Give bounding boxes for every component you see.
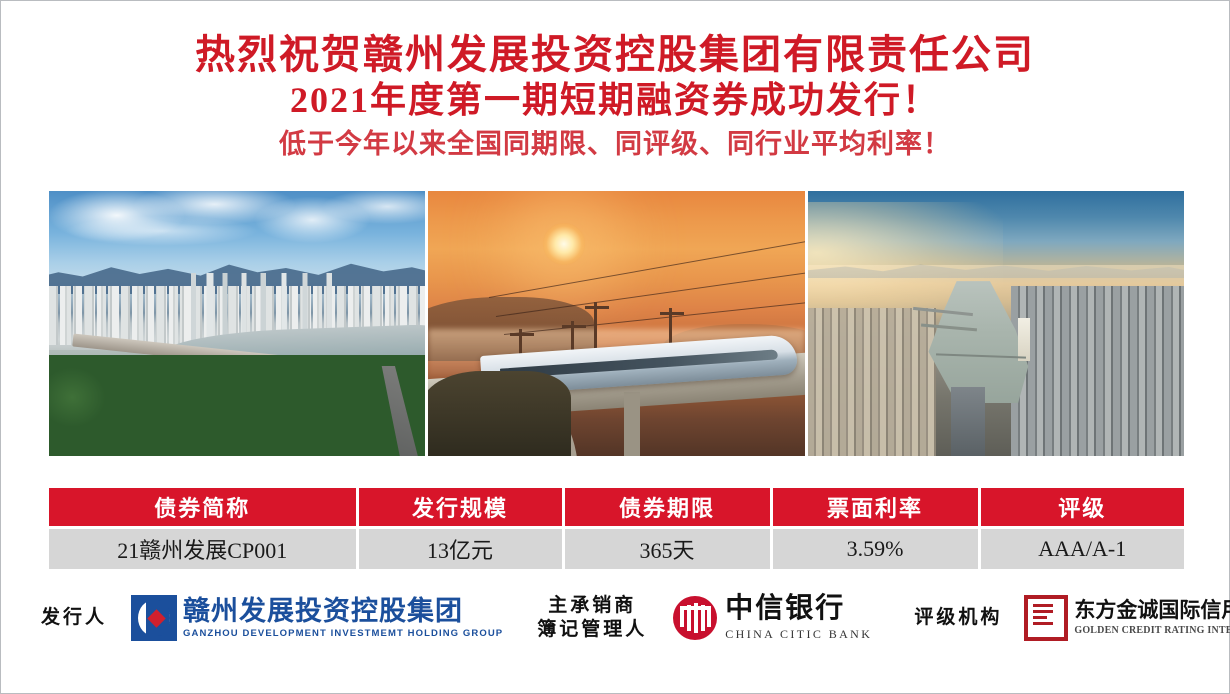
golden-credit-logo-mark — [1024, 595, 1068, 641]
catenary-wire — [496, 269, 805, 316]
cell-bond-name: 21赣州发展CP001 — [49, 528, 357, 570]
golden-credit-logo-cn: 东方金诚国际信用评估有限公司 — [1074, 600, 1230, 622]
logo-stroke — [1033, 604, 1053, 607]
underwriter-label: 主承销商 簿记管理人 — [537, 594, 647, 642]
citic-logo-mark — [673, 596, 717, 640]
cell-coupon-rate: 3.59% — [771, 528, 979, 570]
sunset-sun — [543, 223, 585, 265]
viaduct-pier — [624, 392, 640, 456]
white-tower — [1018, 318, 1030, 360]
photo-strip — [49, 191, 1184, 456]
ganzhou-development-logo: 赣州发展投资控股集团 GANZHOU DEVELOPMENT INVESTMEM… — [131, 595, 503, 641]
column-header-bond-name: 债券简称 — [49, 488, 357, 528]
foreground-forest — [49, 355, 425, 456]
catenary-wire — [488, 237, 804, 298]
logo-stroke — [1033, 616, 1047, 619]
citic-logo-cn: 中信银行 — [725, 594, 872, 623]
underwriter-group: 主承销商 簿记管理人 中信银行 CHINA CITIC BANK — [537, 594, 872, 642]
golden-credit-logo: 东方金诚国际信用评估有限公司 GOLDEN CREDIT RATING INTE… — [1024, 595, 1230, 641]
ganzhou-logo-cn: 赣州发展投资控股集团 — [183, 597, 503, 625]
foreground-building — [951, 387, 985, 456]
photo-highspeed-train-sunset — [428, 191, 804, 456]
logo-stroke — [707, 609, 711, 627]
footer-partners: 发行人 赣州发展投资控股集团 GANZHOU DEVELOPMENT INVES… — [1, 573, 1230, 663]
citic-bank-logo: 中信银行 CHINA CITIC BANK — [673, 594, 872, 641]
citic-logo-en: CHINA CITIC BANK — [725, 627, 872, 642]
city-right-bank — [1011, 286, 1184, 456]
underwriter-label-line-1: 主承销商 — [537, 594, 647, 618]
photo-city-riverside — [49, 191, 425, 456]
golden-credit-logo-en: GOLDEN CREDIT RATING INTERNATIONAL Co.,L… — [1074, 625, 1230, 636]
headline-line-1: 热烈祝贺赣州发展投资控股集团有限责任公司 — [1, 31, 1229, 78]
citic-logo-text: 中信银行 CHINA CITIC BANK — [725, 594, 872, 641]
cell-rating: AAA/A-1 — [979, 528, 1184, 570]
ganzhou-logo-text: 赣州发展投资控股集团 GANZHOU DEVELOPMENT INVESTMEM… — [183, 597, 503, 639]
photo-aerial-city-river — [808, 191, 1184, 456]
bond-info-table: 债券简称 发行规模 债券期限 票面利率 评级 21赣州发展CP001 13亿元 … — [49, 488, 1184, 569]
rating-agency-label: 评级机构 — [914, 606, 1002, 630]
column-header-bond-tenor: 债券期限 — [563, 488, 771, 528]
rating-agency-group: 评级机构 东方金诚国际信用评估有限公司 GOLDEN CREDIT RATING… — [914, 595, 1230, 641]
headline-line-3: 低于今年以来全国同期限、同评级、同行业平均利率！ — [1, 124, 1229, 165]
ganzhou-logo-en: GANZHOU DEVELOPMENT INVESTMEMT HOLDING G… — [183, 628, 503, 639]
logo-stroke — [680, 609, 684, 627]
ganzhou-logo-mark — [131, 595, 177, 641]
headline-line-2: 2021年度第一期短期融资券成功发行！ — [1, 78, 1229, 123]
logo-stroke — [1033, 610, 1053, 613]
issuer-label: 发行人 — [41, 606, 107, 630]
bond-issuance-poster: 热烈祝贺赣州发展投资控股集团有限责任公司 2021年度第一期短期融资券成功发行！… — [0, 0, 1230, 694]
column-header-issue-size: 发行规模 — [357, 488, 563, 528]
column-header-rating: 评级 — [979, 488, 1184, 528]
golden-credit-logo-text: 东方金诚国际信用评估有限公司 GOLDEN CREDIT RATING INTE… — [1074, 600, 1230, 635]
issuer-group: 发行人 赣州发展投资控股集团 GANZHOU DEVELOPMENT INVES… — [41, 595, 503, 641]
column-header-coupon-rate: 票面利率 — [771, 488, 979, 528]
table-header-row: 债券简称 发行规模 债券期限 票面利率 评级 — [49, 488, 1184, 528]
city-left-bank — [808, 308, 936, 456]
cell-bond-tenor: 365天 — [563, 528, 771, 570]
logo-stroke — [1033, 622, 1053, 625]
cell-issue-size: 13亿元 — [357, 528, 563, 570]
table-row: 21赣州发展CP001 13亿元 365天 3.59% AAA/A-1 — [49, 528, 1184, 570]
foreground-trees — [428, 371, 571, 456]
headline-block: 热烈祝贺赣州发展投资控股集团有限责任公司 2021年度第一期短期融资券成功发行！… — [1, 1, 1229, 164]
logo-stroke — [680, 606, 711, 610]
underwriter-label-line-2: 簿记管理人 — [537, 618, 647, 642]
